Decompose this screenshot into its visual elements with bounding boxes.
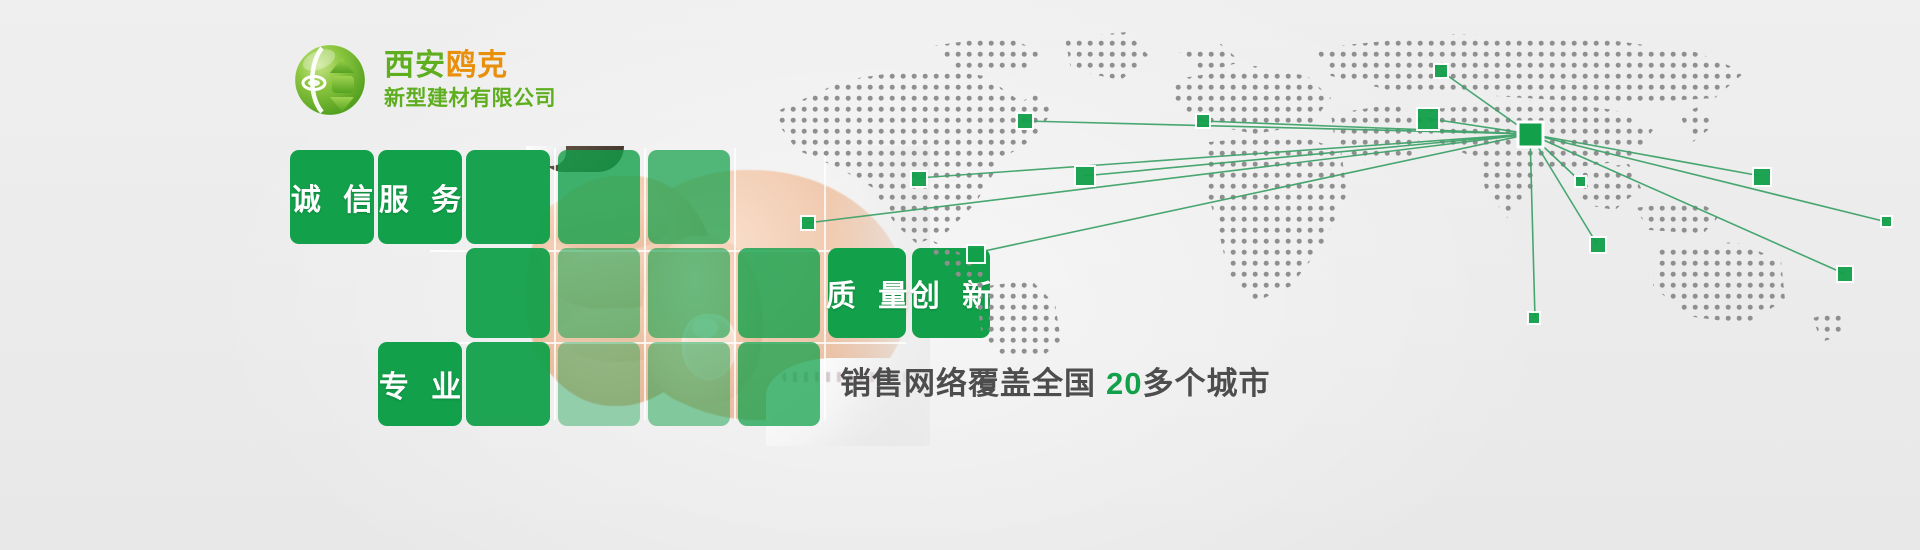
mosaic-gridline (644, 148, 646, 420)
tile-integrity[interactable]: 诚 信 (290, 150, 374, 244)
company-logo[interactable]: 西安鸥克 新型建材有限公司 (292, 42, 556, 118)
logo-brand-text: 鸥克 (446, 49, 508, 82)
tile-service[interactable]: 服 务 (378, 150, 462, 244)
tagline-number: 20 (1106, 366, 1142, 401)
company-globe-logo-icon (292, 42, 368, 118)
logo-city-text: 西安 (384, 49, 446, 82)
central-hub-node (1518, 122, 1543, 147)
tile-blank-r3c5 (648, 342, 730, 426)
sales-network-world-map (735, 18, 1915, 358)
tile-integrity-label: 诚 信 (290, 150, 374, 244)
tagline: 销售网络覆盖全国20多个城市 (840, 358, 1270, 403)
tile-blank-r3c4 (558, 342, 640, 426)
tile-service-label: 服 务 (378, 150, 462, 244)
tile-blank-r2c4 (558, 248, 640, 338)
logo-company-name-line2: 新型建材有限公司 (384, 88, 556, 110)
logo-company-name-line1: 西安鸥克 (384, 50, 556, 82)
tile-blank-r1c5 (648, 150, 730, 244)
promo-banner: 西安鸥克 新型建材有限公司 (0, 0, 1920, 550)
mosaic-gridline (554, 148, 556, 420)
tagline-suffix: 多个城市 (1142, 366, 1270, 401)
tile-blank-r3c3 (466, 342, 550, 426)
logo-wordmark: 西安鸥克 新型建材有限公司 (384, 50, 556, 110)
tile-professional-label: 专 业 (378, 342, 462, 426)
tile-blank-r2c3 (466, 248, 550, 338)
tile-blank-r2c5 (648, 248, 730, 338)
tile-blank-r1c4 (558, 150, 640, 244)
tagline-prefix: 销售网络覆盖全国 (840, 366, 1096, 401)
tile-professional[interactable]: 专 业 (378, 342, 462, 426)
tile-blank-r1c3 (466, 150, 550, 244)
